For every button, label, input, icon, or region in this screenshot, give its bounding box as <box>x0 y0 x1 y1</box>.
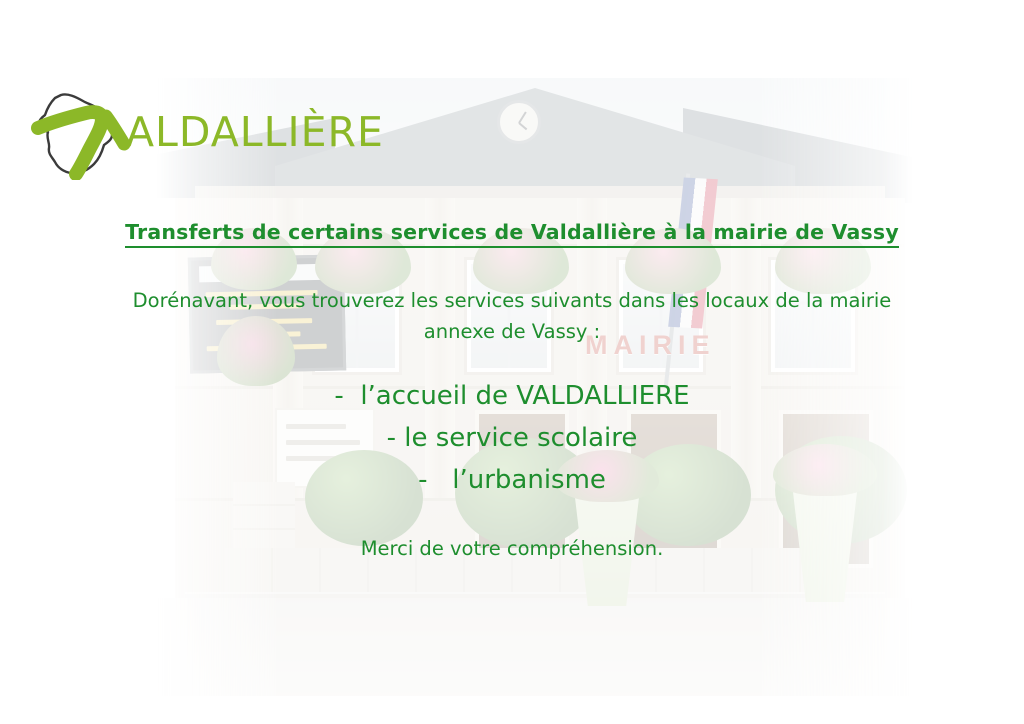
page-title-text: Transferts de certains services de Valda… <box>125 220 899 248</box>
page-title: Transferts de certains services de Valda… <box>0 220 1024 244</box>
services-list: - l’accueil de VALDALLIERE - le service … <box>0 375 1024 501</box>
poster-page: MAIRIE <box>0 0 1024 724</box>
intro-paragraph: Dorénavant, vous trouverez les services … <box>102 285 922 347</box>
list-item: - l’urbanisme <box>0 459 1024 501</box>
list-item: - l’accueil de VALDALLIERE <box>0 375 1024 417</box>
list-item: - le service scolaire <box>0 417 1024 459</box>
closing-line: Merci de votre compréhension. <box>0 537 1024 560</box>
poster-content: Transferts de certains services de Valda… <box>0 0 1024 724</box>
